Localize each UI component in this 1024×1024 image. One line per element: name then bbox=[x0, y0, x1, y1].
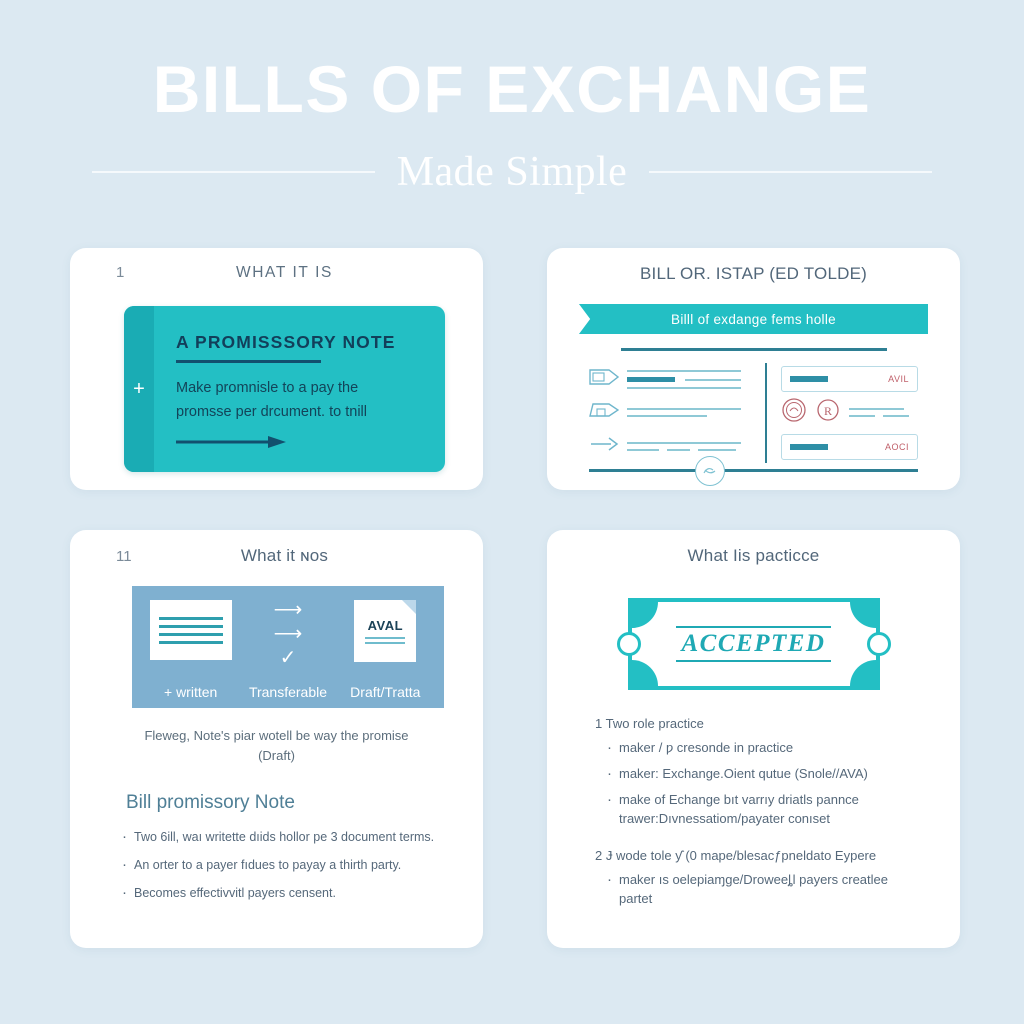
sub-bullet-list: maker / ƿ cresonde in practice maker: Ex… bbox=[607, 739, 916, 828]
document-body: AVIL R bbox=[589, 363, 918, 463]
line bbox=[698, 449, 737, 451]
line bbox=[627, 387, 741, 389]
document-row bbox=[589, 368, 741, 391]
feature-written: + written bbox=[142, 600, 239, 708]
line bbox=[685, 379, 741, 381]
features-panel: + written ⟶ ⟶ ✓ Transferable AVAL Draft/… bbox=[132, 586, 444, 708]
line bbox=[849, 415, 875, 417]
notch-right-icon bbox=[867, 632, 891, 656]
card-bill-form[interactable]: BILL OR. ISTAP (ED TOLDE) Billl of exdan… bbox=[547, 248, 960, 490]
list-item: make of Echange bıt varrıy driatls pannc… bbox=[607, 791, 916, 829]
document-column-divider bbox=[765, 363, 767, 463]
card-grid: 1 WHAT IT IS + A PROMISSSORY NOTE Make p… bbox=[70, 248, 960, 948]
list-item: maker: Exchange.Oient qutue (Snole//AVA) bbox=[607, 765, 916, 784]
corner-top-right bbox=[850, 602, 876, 628]
check-icon: ✓ bbox=[280, 648, 297, 668]
card-practice[interactable]: What Iis pacticce ACCEPTED 1 Two role pr… bbox=[547, 530, 960, 948]
notch-left-icon bbox=[617, 632, 641, 656]
card-heading: WHAT IT IS bbox=[144, 264, 465, 282]
line bbox=[627, 415, 707, 417]
package-arrow-icon bbox=[589, 401, 619, 424]
doc-line bbox=[159, 625, 223, 628]
card-heading: What it ɴos bbox=[144, 546, 465, 566]
caption-line-2: (Draft) bbox=[114, 746, 439, 766]
field-chip bbox=[790, 376, 828, 382]
ribbon-banner: Billl of exdange fems holle bbox=[579, 304, 928, 334]
stamp-row: R bbox=[781, 397, 918, 428]
panel-title: A PROMISSSORY NOTE bbox=[176, 332, 423, 353]
feature-label: Transferable bbox=[249, 684, 327, 708]
card-what-it-does[interactable]: 11 What it ɴos + written ⟶ ⟶ ✓ Transfera… bbox=[70, 530, 483, 948]
arrow-right-icon bbox=[589, 435, 619, 458]
subtitle-row: Made Simple bbox=[92, 148, 932, 196]
card-heading: BILL OR. ISTAP (ED TOLDE) bbox=[565, 264, 942, 284]
card-what-it-is[interactable]: 1 WHAT IT IS + A PROMISSSORY NOTE Make p… bbox=[70, 248, 483, 490]
line bbox=[627, 408, 741, 410]
list-item: An orter to a payer fıdues to payay a th… bbox=[122, 856, 439, 875]
panel-body-line1: Make promnisle to a pay the bbox=[176, 377, 423, 401]
document-row bbox=[589, 435, 741, 458]
promissory-note-panel: + A PROMISSSORY NOTE Make promnisle to a… bbox=[124, 306, 445, 472]
group-heading: 1 Two role practice bbox=[595, 716, 916, 731]
document-top-rule bbox=[621, 348, 887, 351]
card-topbar: 11 What it ɴos bbox=[88, 546, 465, 576]
registered-mark-icon: R bbox=[815, 397, 841, 428]
panel-caption: Fleweg, Note's piar wotell be way the pr… bbox=[114, 726, 439, 766]
dashed-lines bbox=[849, 408, 918, 417]
card-topbar: 1 WHAT IT IS bbox=[88, 264, 465, 294]
lined-document-icon bbox=[150, 600, 232, 660]
field-box-aval: AVIL bbox=[781, 366, 918, 392]
list-item: Two 6ill, waı writette dıids hollor pe 3… bbox=[122, 828, 439, 847]
feature-draft: AVAL Draft/Tratta bbox=[337, 600, 434, 708]
panel-underline bbox=[176, 360, 321, 363]
line bbox=[627, 370, 741, 372]
ribbon-label: Billl of exdange fems holle bbox=[671, 312, 836, 327]
plus-icon: + bbox=[132, 379, 146, 399]
divider-right bbox=[649, 171, 932, 173]
line bbox=[627, 449, 659, 451]
panel-body-line2: promsse per drcument. to tnill bbox=[176, 401, 423, 425]
corner-bottom-left bbox=[632, 660, 658, 686]
seal-icon bbox=[695, 456, 725, 486]
line bbox=[883, 415, 909, 417]
line bbox=[849, 408, 904, 410]
arrow-right-icon: ⟶ bbox=[274, 600, 303, 620]
document-left-column bbox=[589, 363, 751, 463]
line bbox=[667, 449, 690, 451]
row-lines bbox=[627, 408, 741, 417]
caption-line-1: Fleweg, Note's piar wotell be way the pr… bbox=[114, 726, 439, 746]
practice-group-2: 2 Ɉ wode tole ƴ (0 mape/blesacƒpneldato … bbox=[595, 848, 916, 909]
divider-left bbox=[92, 171, 375, 173]
feature-transferable: ⟶ ⟶ ✓ Transferable bbox=[239, 600, 336, 708]
line-highlight bbox=[627, 377, 675, 382]
page-subtitle: Made Simple bbox=[397, 148, 628, 196]
sub-bullet-list: maker ıs oelepiaɱge/Droweeȴl payers crea… bbox=[607, 871, 916, 909]
practice-group-1: 1 Two role practice maker / ƿ cresonde i… bbox=[595, 716, 916, 828]
card-heading: What Iis pacticce bbox=[565, 546, 942, 566]
document-bottom-rule bbox=[589, 469, 918, 472]
field-label: AVIL bbox=[888, 374, 909, 384]
page-header: BILLS OF EXCHANGE Made Simple bbox=[0, 0, 1024, 230]
document-right-column: AVIL R bbox=[781, 363, 918, 463]
svg-text:R: R bbox=[824, 404, 832, 418]
card-number: 11 bbox=[88, 548, 144, 565]
arrow-right-icon bbox=[176, 435, 423, 454]
tag-arrow-icon bbox=[589, 368, 619, 391]
list-item: maker ıs oelepiaɱge/Droweeȴl payers crea… bbox=[607, 871, 916, 909]
row-lines bbox=[627, 442, 741, 451]
aval-document-icon: AVAL bbox=[354, 600, 416, 662]
accepted-stamp: ACCEPTED bbox=[628, 598, 880, 690]
list-item: maker / ƿ cresonde in practice bbox=[607, 739, 916, 758]
corner-top-left bbox=[632, 602, 658, 628]
card-topbar: BILL OR. ISTAP (ED TOLDE) bbox=[565, 264, 942, 294]
stamp-circle-icon bbox=[781, 397, 807, 428]
aval-label: AVAL bbox=[368, 618, 403, 633]
doc-lines bbox=[365, 637, 405, 644]
field-label: AOCI bbox=[885, 442, 909, 452]
field-chip bbox=[790, 444, 828, 450]
doc-line bbox=[159, 617, 223, 620]
group-heading: 2 Ɉ wode tole ƴ (0 mape/blesacƒpneldato … bbox=[595, 848, 916, 863]
doc-line bbox=[159, 633, 223, 636]
line bbox=[627, 442, 741, 444]
doc-line bbox=[159, 641, 223, 644]
stamp-label: ACCEPTED bbox=[676, 626, 832, 663]
feature-label: + written bbox=[164, 684, 217, 708]
page-title: BILLS OF EXCHANGE bbox=[153, 56, 872, 122]
stamp-frame: ACCEPTED bbox=[628, 598, 880, 690]
bullet-list: Two 6ill, waı writette dıids hollor pe 3… bbox=[122, 828, 439, 902]
page-fold bbox=[402, 600, 416, 614]
corner-bottom-right bbox=[850, 660, 876, 686]
card-number: 1 bbox=[88, 264, 144, 281]
card-topbar: What Iis pacticce bbox=[565, 546, 942, 576]
row-lines bbox=[627, 370, 741, 389]
arrow-right-icon: ⟶ bbox=[274, 624, 303, 644]
field-box-aoci: AOCI bbox=[781, 434, 918, 460]
document-row bbox=[589, 401, 741, 424]
feature-label: Draft/Tratta bbox=[350, 684, 420, 708]
list-item: Becomes effectivvitl payers censent. bbox=[122, 884, 439, 903]
section-title: Bill promissory Note bbox=[126, 792, 465, 814]
